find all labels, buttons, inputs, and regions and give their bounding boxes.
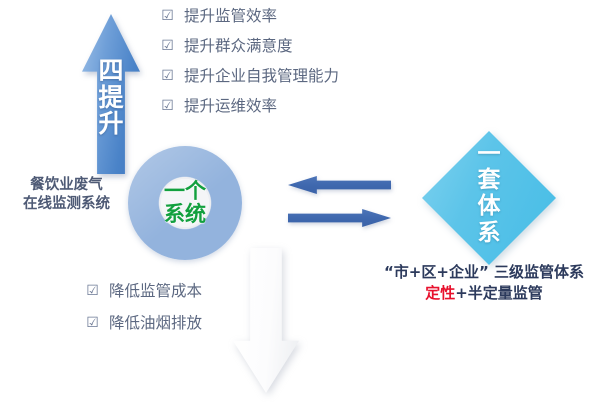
diamond-label: 一 套 体 系	[422, 141, 556, 246]
list-item: ☑ 降低监管成本	[85, 281, 315, 302]
up-arrow-label: 四 提 升	[82, 58, 140, 138]
list-item-label: 提升企业自我管理能力	[184, 66, 339, 87]
list-item: ☑ 提升运维效率	[160, 96, 420, 117]
up-arrow-char-1: 四	[82, 58, 140, 85]
list-item-label: 降低监管成本	[109, 281, 202, 302]
arrow-right-icon	[288, 209, 391, 227]
diamond-char-2: 套	[422, 167, 556, 193]
list-item-label: 降低油烟排放	[109, 313, 202, 334]
diamond-char-4: 系	[422, 220, 556, 246]
benefits-list-bottom: ☑ 降低监管成本 ☑ 降低油烟排放	[85, 281, 315, 345]
arrow-left-icon	[288, 176, 391, 194]
diamond-char-1: 一	[422, 141, 556, 167]
caption-line-1: “市+区+企业” 三级监管体系	[368, 262, 600, 283]
center-system-line-2: 系统	[164, 203, 206, 226]
arrow-left-shape	[288, 176, 391, 194]
diamond-caption: “市+区+企业” 三级监管体系 定性+半定量监管	[368, 262, 600, 305]
diamond-one-system-framework: 一 套 体 系	[422, 131, 556, 265]
caption-line-2: 定性+半定量监管	[368, 283, 600, 304]
system-name-line-2: 在线监测系统	[14, 195, 119, 214]
checkbox-checked-icon: ☑	[160, 39, 175, 54]
checkbox-checked-icon: ☑	[160, 69, 175, 84]
checkbox-checked-icon: ☑	[85, 316, 100, 331]
list-item: ☑ 提升监管效率	[160, 6, 420, 27]
list-item-label: 提升群众满意度	[184, 36, 293, 57]
caption-highlight: 定性	[425, 284, 455, 302]
list-item: ☑ 降低油烟排放	[85, 313, 315, 334]
list-item-label: 提升运维效率	[184, 96, 277, 117]
benefits-list-top: ☑ 提升监管效率 ☑ 提升群众满意度 ☑ 提升企业自我管理能力 ☑ 提升运维效率	[160, 6, 420, 126]
center-system-line-1: 一个	[164, 180, 206, 203]
center-system-donut: 一个 系统	[128, 146, 242, 260]
system-name-line-1: 餐饮业废气	[14, 176, 119, 195]
checkbox-checked-icon: ☑	[160, 9, 175, 24]
infographic-canvas: 四 提 升 ☑ 提升监管效率 ☑ 提升群众满意度 ☑ 提升企业自我管理能力 ☑ …	[0, 0, 600, 402]
checkbox-checked-icon: ☑	[160, 99, 175, 114]
list-item: ☑ 提升企业自我管理能力	[160, 66, 420, 87]
arrow-right-shape	[288, 209, 391, 227]
list-item: ☑ 提升群众满意度	[160, 36, 420, 57]
list-item-label: 提升监管效率	[184, 6, 277, 27]
caption-rest: +半定量监管	[455, 284, 543, 302]
up-arrow-char-3: 升	[82, 111, 140, 138]
up-arrow-char-2: 提	[82, 85, 140, 112]
system-name-label: 餐饮业废气 在线监测系统	[14, 176, 119, 214]
checkbox-checked-icon: ☑	[85, 284, 100, 299]
center-system-label: 一个 系统	[128, 146, 242, 260]
diamond-char-3: 体	[422, 193, 556, 219]
